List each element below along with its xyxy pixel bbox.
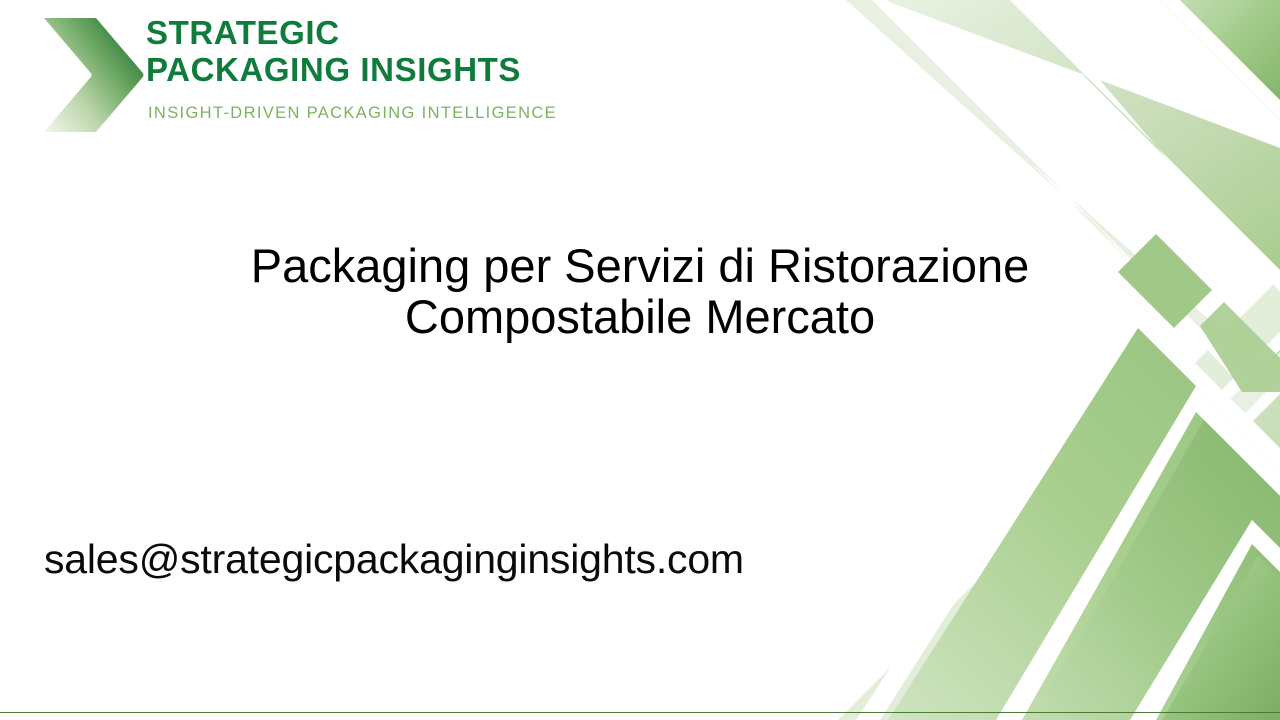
main-chevron [856,300,1280,720]
title-block: Packaging per Servizi di Ristorazione Co… [245,240,1035,342]
upper-diagonal-band-group [838,278,1280,720]
corner-chevron [1130,520,1280,720]
contact-email: sales@strategicpackaginginsights.com [44,533,944,585]
top-descending-bands [846,0,1280,424]
contact-block: sales@strategicpackaginginsights.com [44,533,944,585]
brand-logo: STRATEGIC PACKAGING INSIGHTS INSIGHT-DRI… [38,14,558,136]
top-band-group [846,0,1280,428]
decorative-chevron-bands [760,0,1280,720]
logo-line-1: STRATEGIC [146,14,556,51]
slide-canvas: STRATEGIC PACKAGING INSIGHTS INSIGHT-DRI… [0,0,1280,720]
logo-wordmark: STRATEGIC PACKAGING INSIGHTS INSIGHT-DRI… [146,14,556,123]
lower-descending-bands [888,352,1280,720]
bottom-rule-divider [0,712,1280,714]
accent-shards [1118,234,1280,392]
chevron-overlay-group [860,320,1280,720]
page-title: Packaging per Servizi di Ristorazione Co… [245,240,1035,342]
inner-chevron [996,386,1280,720]
logo-line-2: PACKAGING INSIGHTS [146,51,556,88]
decoration-svg [760,0,1280,720]
logo-tagline: INSIGHT-DRIVEN PACKAGING INTELLIGENCE [148,104,556,123]
chevron-arrow-mark-icon [38,16,146,134]
